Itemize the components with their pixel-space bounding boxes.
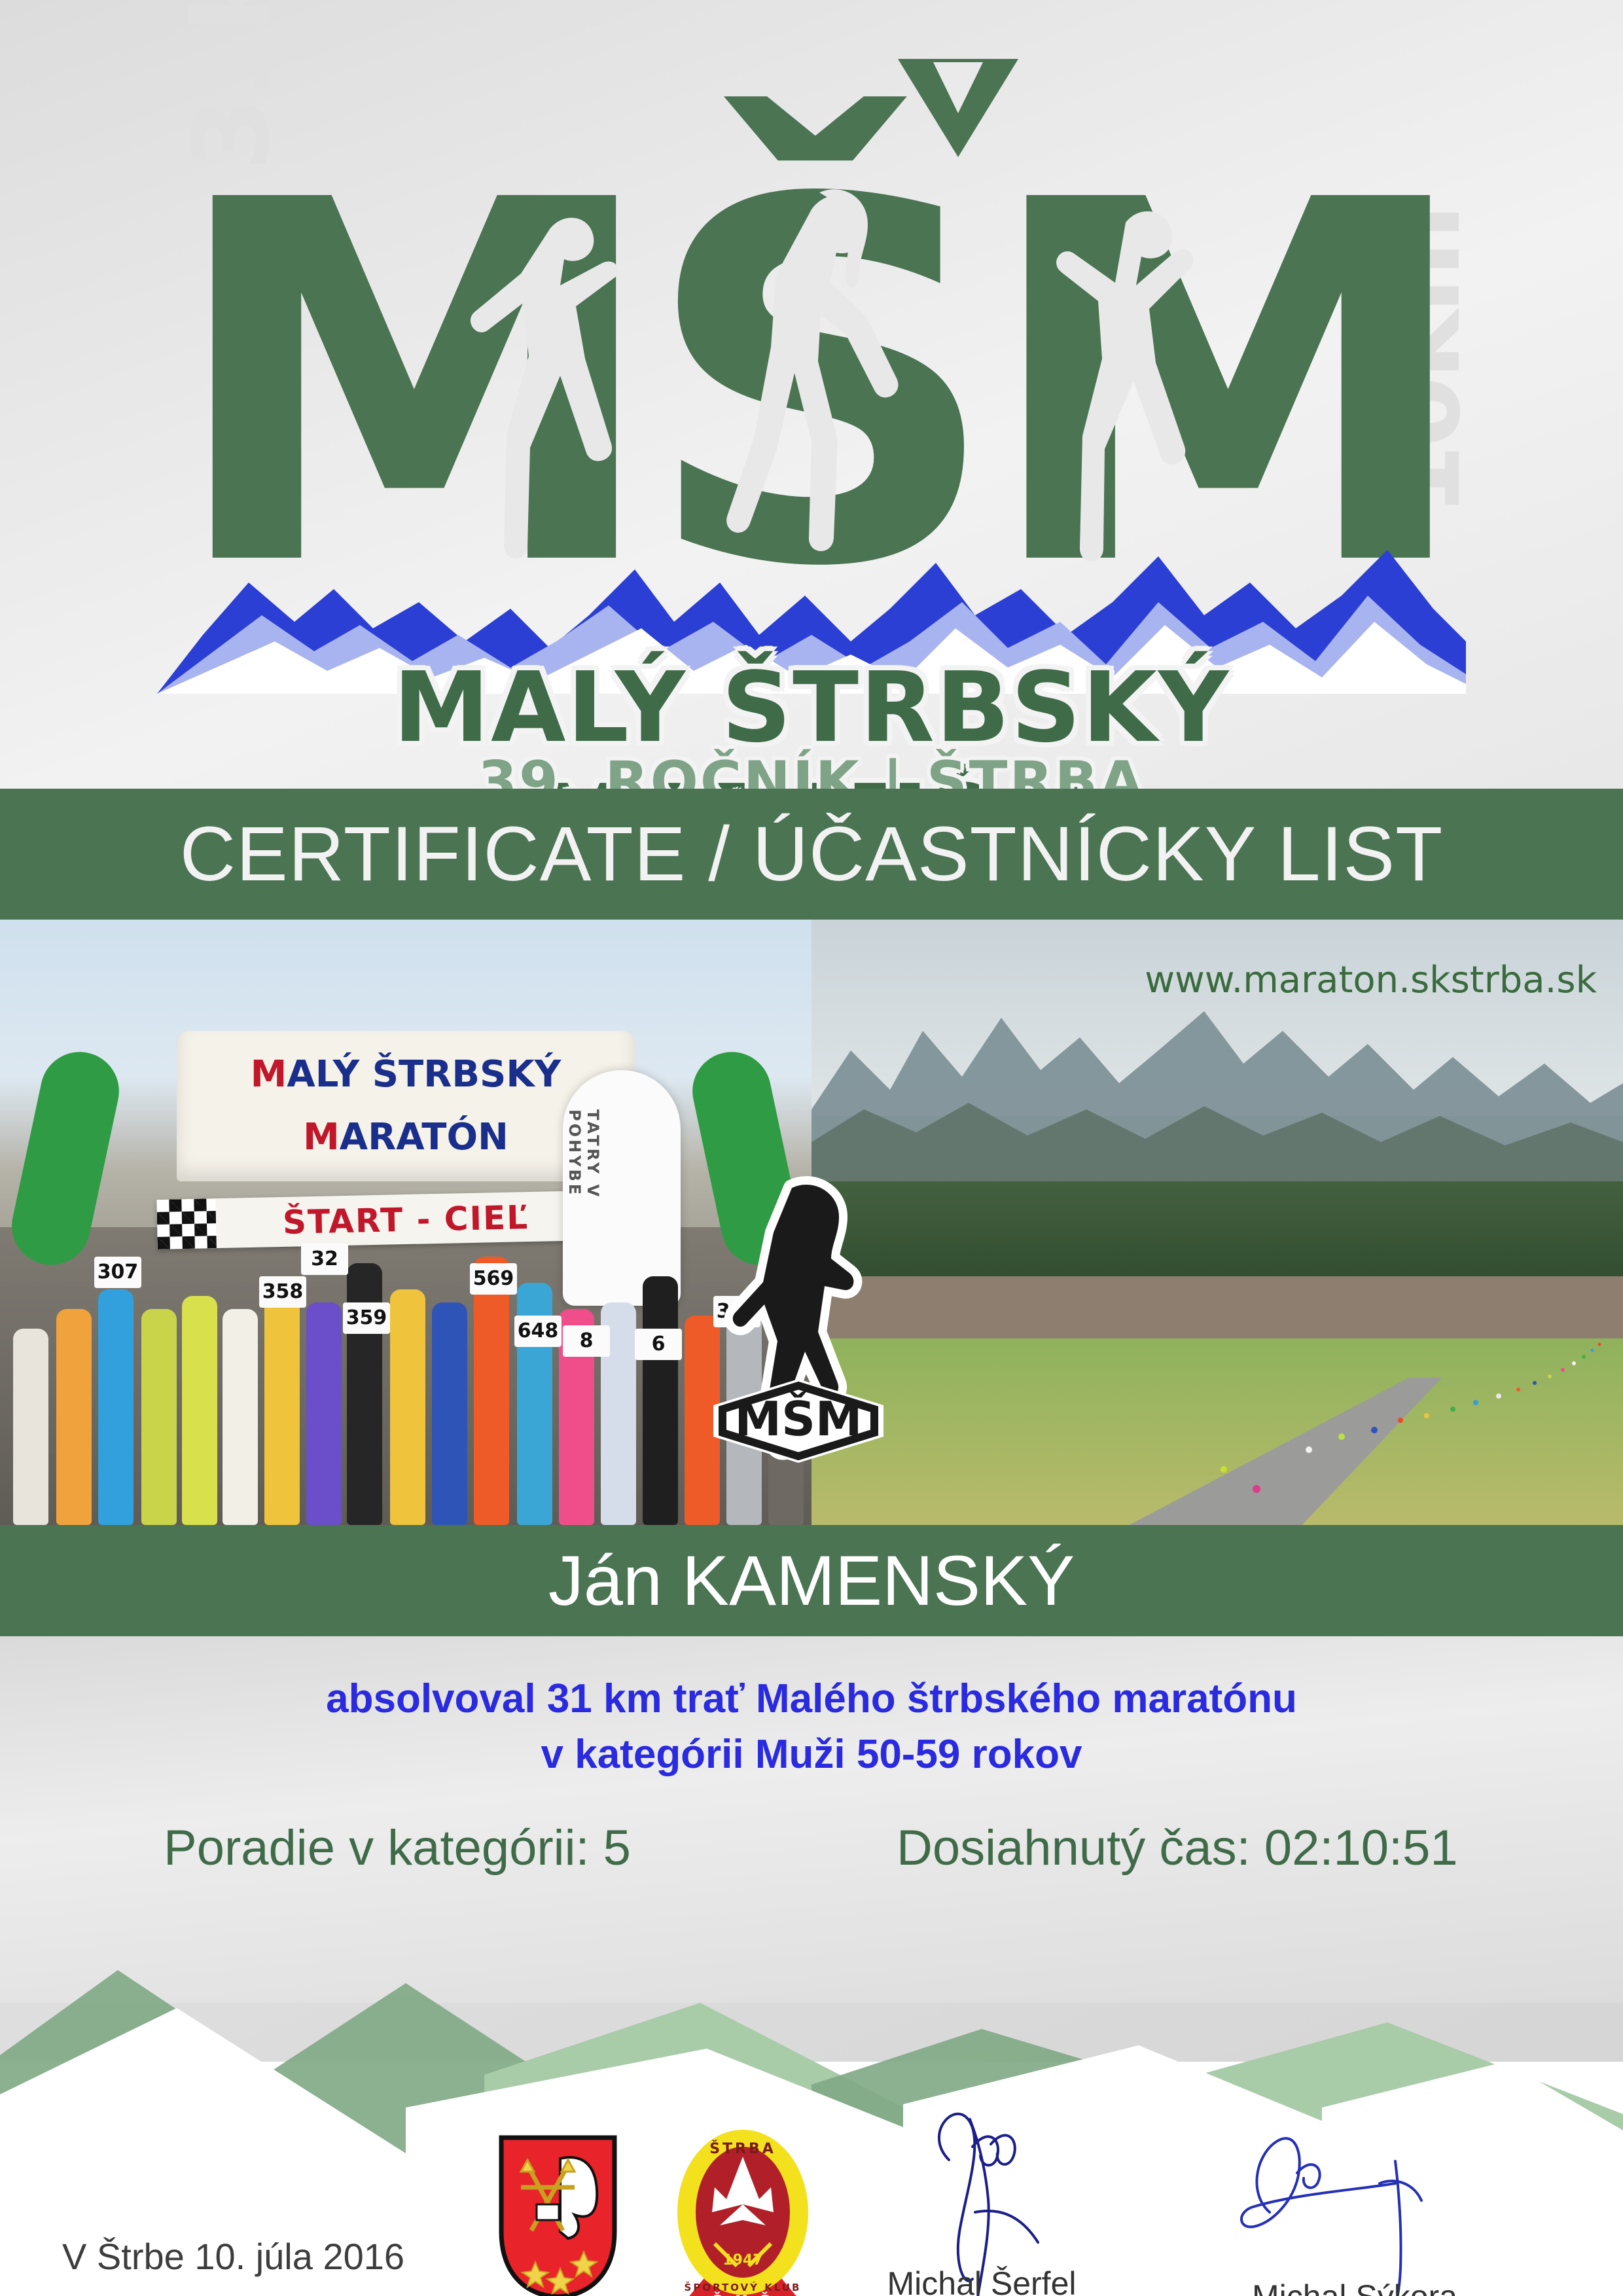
participant-name-band: Ján KAMENSKÝ [0, 1525, 1623, 1636]
distant-runners [1093, 1338, 1616, 1525]
runner-bib: 359 [343, 1302, 390, 1334]
runner-figure [13, 1329, 48, 1525]
start-arch: MALÝ ŠTRBSKÝ MARATÓN ŠTART - CIEĽ TATRY … [26, 1011, 785, 1175]
runner-figure [306, 1302, 342, 1525]
certificate-page: 31km 10km MŠM [0, 0, 1623, 2296]
footer: V Štrbe 10. júla 2016 Obe [0, 1957, 1623, 2296]
runner-figure [56, 1309, 92, 1525]
certificate-title-band: CERTIFICATE / ÚČASTNÍCKY LIST [0, 789, 1623, 920]
achievement-line-1: absolvoval 31 km trať Malého štrbského m… [0, 1676, 1623, 1722]
signature-ink-mayor [1224, 2121, 1446, 2296]
arch-banner-line1: MALÝ ŠTRBSKÝ [177, 1053, 635, 1096]
website-url[interactable]: www.maraton.skstrba.sk [1145, 959, 1597, 1001]
runner-figure [474, 1257, 509, 1525]
finish-time: Dosiahnutý čas: 02:10:51 [897, 1820, 1458, 1876]
sks-top-text: ŠTRBA [709, 2140, 776, 2157]
runner-bib: 6 [635, 1329, 682, 1360]
msm-runner-badge: MŠM [713, 1175, 883, 1463]
runner-bib: 358 [259, 1276, 306, 1308]
runner-figure [141, 1309, 177, 1525]
photo-strip: MALÝ ŠTRBSKÝ MARATÓN ŠTART - CIEĽ TATRY … [0, 920, 1623, 1525]
category-rank: Poradie v kategórii: 5 [164, 1820, 631, 1876]
runner-figure [264, 1276, 300, 1525]
participant-name: Ján KAMENSKÝ [0, 1525, 1623, 1636]
runner-bib: 648 [514, 1316, 562, 1347]
arch-line1-initial: M [251, 1053, 287, 1096]
runner-figure [390, 1289, 425, 1525]
director-name: Michal Šerfel [798, 2265, 1165, 2296]
msm-logo: 31km 10km MŠM [157, 46, 1466, 785]
photo-race-route: www.maraton.skstrba.sk [811, 920, 1623, 1525]
arch-line1-rest: ALÝ ŠTRBSKÝ [287, 1053, 561, 1096]
footer-content: V Štrbe 10. júla 2016 Obe [0, 2068, 1623, 2296]
tatra-mountains [811, 992, 1623, 1208]
issue-date: V Štrbe 10. júla 2016 [62, 2235, 404, 2278]
mayor-name: Michal Sýkora [1171, 2278, 1538, 2296]
runner-bib: 8 [563, 1325, 610, 1357]
achievement-line-2: v kategórii Muži 50-59 rokov [0, 1731, 1623, 1778]
runner-figure [98, 1289, 134, 1525]
runner-bib: 307 [94, 1257, 141, 1288]
photo-race-start: MALÝ ŠTRBSKÝ MARATÓN ŠTART - CIEĽ TATRY … [0, 920, 811, 1525]
runner-figure [182, 1296, 217, 1525]
sks-club-crest-icon: ŠTRBA 1947 ŠPORTOVÝ KLUB Š K Š [674, 2127, 811, 2296]
sks-bottom-text: Š K Š [712, 2291, 774, 2296]
runner-figure [223, 1309, 258, 1525]
result-body: absolvoval 31 km trať Malého štrbského m… [0, 1636, 1623, 2003]
runner-bib: 569 [470, 1263, 517, 1295]
sks-year: 1947 [722, 2252, 762, 2269]
runner-figure [432, 1302, 467, 1525]
runner-bib: 32 [301, 1244, 348, 1275]
arch-line2-initial: M [303, 1116, 340, 1158]
header-logo-area: 31km 10km MŠM [0, 0, 1623, 789]
runner-crowd: 307 358 359 32 569 648 8 6 360 [0, 1217, 811, 1525]
arch-line2-rest: ARATÓN [340, 1116, 508, 1158]
certificate-title: CERTIFICATE / ÚČASTNÍCKY LIST [0, 789, 1623, 920]
signature-block-mayor: Michal Sýkora starosta obce Štrba [1171, 2278, 1538, 2296]
signature-block-director: Michal Šerfel riaditeľ pretekov [798, 2265, 1165, 2296]
badge-text: MŠM [734, 1391, 862, 1446]
runner-figure [643, 1276, 678, 1525]
obec-strba-crest-icon [497, 2134, 618, 2296]
